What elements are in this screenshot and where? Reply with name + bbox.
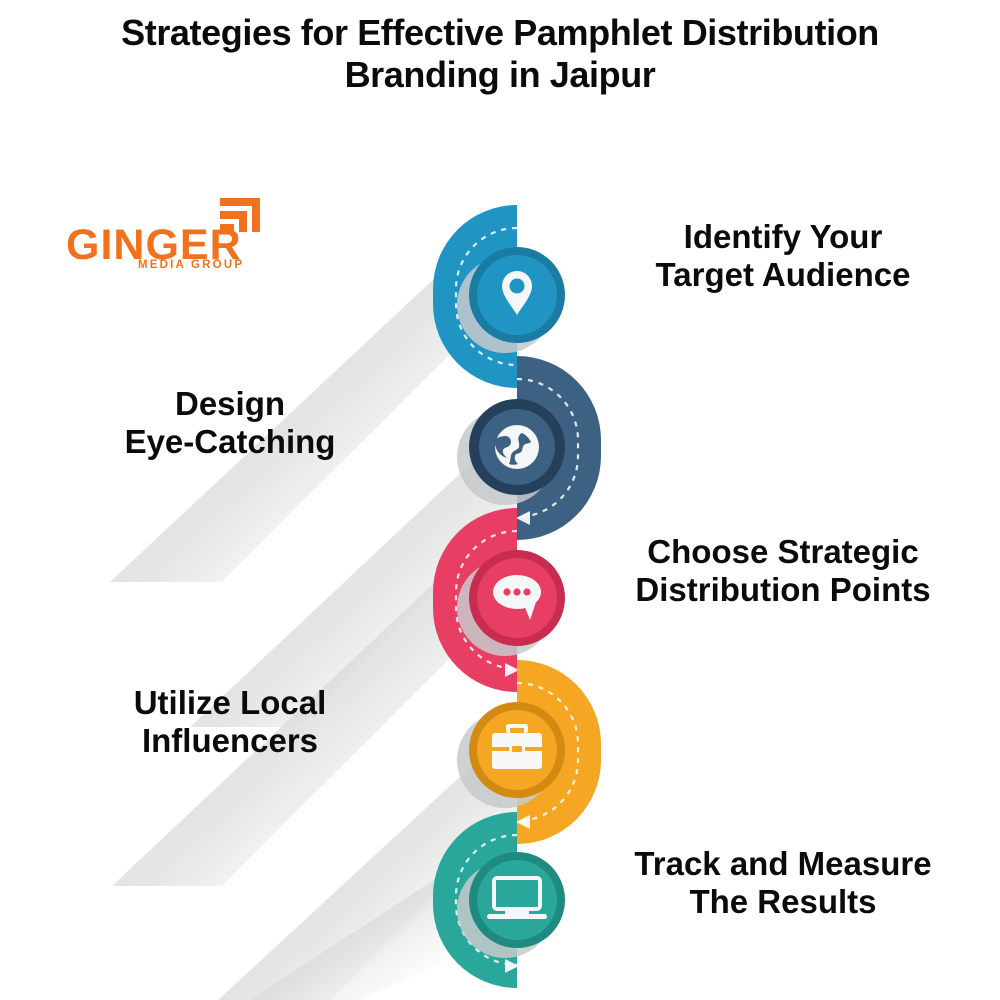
step-label-1-line-2: Target Audience <box>568 256 998 294</box>
step-label-2-line-2: Eye-Catching <box>10 423 450 461</box>
step-label-2-line-1: Design <box>10 385 450 423</box>
step-label-4-line-1: Utilize Local <box>10 684 450 722</box>
step-label-2: Design Eye-Catching <box>10 385 450 461</box>
step-label-3-line-2: Distribution Points <box>568 571 998 609</box>
step-label-5-line-2: The Results <box>568 883 998 921</box>
step-label-4: Utilize Local Influencers <box>10 684 450 760</box>
step-label-1: Identify Your Target Audience <box>568 218 998 294</box>
globe-icon <box>495 425 539 469</box>
step-label-1-line-1: Identify Your <box>568 218 998 256</box>
step-label-5: Track and Measure The Results <box>568 845 998 921</box>
step-label-3-line-1: Choose Strategic <box>568 533 998 571</box>
step-label-4-line-2: Influencers <box>10 722 450 760</box>
step-label-5-line-1: Track and Measure <box>568 845 998 883</box>
step-label-3: Choose Strategic Distribution Points <box>568 533 998 609</box>
